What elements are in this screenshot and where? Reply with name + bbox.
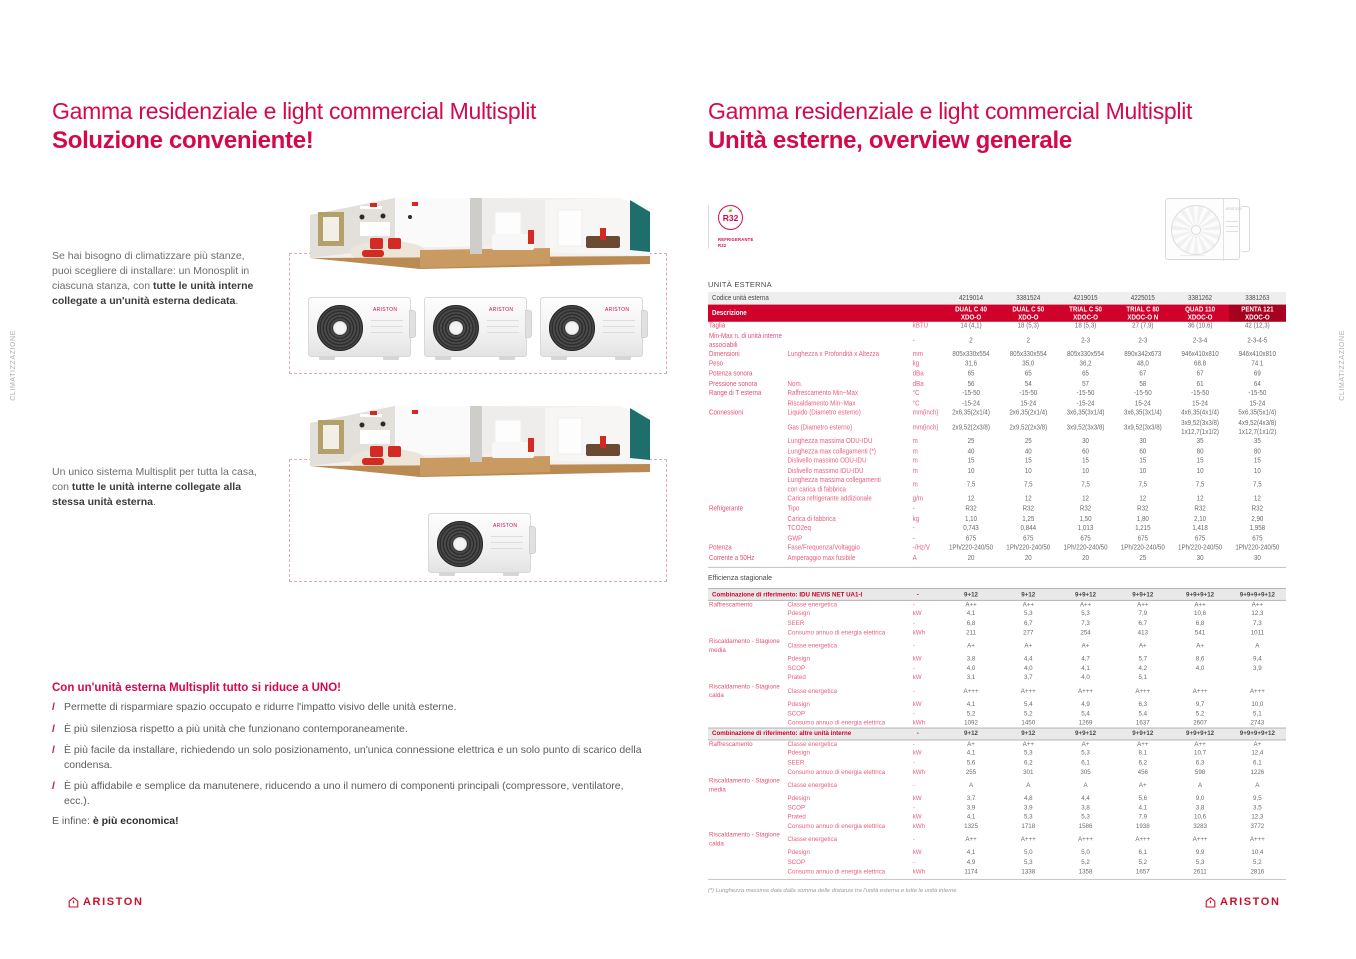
row-value-5: 3283 [1171,822,1228,831]
row-value-3: 1,013 [1057,524,1114,534]
row-unit: kg [913,515,943,525]
row-value-5: 4,0 [1171,664,1228,673]
table-row: Lunghezza max collegamenti (*)m404060608… [708,447,1286,457]
row-value-1: R32 [942,505,999,515]
row-sub-label: Consumo annuo di energia elettrica [788,628,913,637]
row-group-label [708,664,788,673]
row-value-4: 48,0 [1114,360,1171,370]
row-value-4: 8,1 [1114,749,1171,758]
table-row: TCO2eq-0,7430,8441,0131,2151,4181,958 [708,524,1286,534]
row-group-label: Range di T esterna [708,389,788,399]
row-value-5: 5,3 [1171,858,1228,867]
row-value-6: 5,1 [1229,709,1286,718]
row-unit: kWh [913,719,943,728]
row-value-1: 10 [942,467,999,477]
row-value-6: 12,3 [1229,610,1286,619]
row-value-2: 5,4 [1000,700,1057,709]
table-row: SEER-6,86,77,36,76,87,3 [708,619,1286,628]
row-unit: - [913,332,943,350]
row-value-1: 31,6 [942,360,999,370]
row-value-5: 2-3-4 [1171,332,1228,350]
row-value-5: 541 [1171,628,1228,637]
row-value-3: 5,3 [1057,610,1114,619]
row-value-5: 9,0 [1171,794,1228,803]
row-unit: -/Hz/V [913,544,943,554]
row-sub-label: TCO2eq [788,524,913,534]
divider-cell [708,564,1286,567]
row-value-6: -15-50 [1229,389,1286,399]
row-value-3: 10 [1057,467,1114,477]
row-value-1: 1Ph/220-240/50 [942,544,999,554]
row-value-2: R32 [1000,505,1057,515]
row-value-6: 1011 [1229,628,1286,637]
table-row: ConnessioniLiquido (Diametro esterno)mm(… [708,409,1286,419]
row-value-2: 2 [1000,332,1057,350]
row-sub-label: Classe energetica [788,832,913,849]
row-value-3: 5,4 [1057,709,1114,718]
row-group-label: Corrente a 50Hz [708,554,788,564]
table-row: Lunghezza massima collegamenticon carica… [708,477,1286,495]
table-row: DimensioniLunghezza x Profondità x Altez… [708,350,1286,360]
row-group-label [708,804,788,813]
row-value-3: 805x330x554 [1057,350,1114,360]
row-unit: kW [913,849,943,858]
row-value-1: 6,8 [942,619,999,628]
table-row: Dislivello massimo ODU-IDUm151515151515 [708,457,1286,467]
row-value-5: 68.8 [1171,360,1228,370]
row-value-5: 2607 [1171,719,1228,728]
row-value-2: A++ [1000,600,1057,609]
row-group-label [708,758,788,767]
row-sub-label: Prated [788,674,913,683]
row-value-3: 1269 [1057,719,1114,728]
header-desc-label: Descrizione [708,305,942,322]
row-value-4: 5,7 [1114,655,1171,664]
row-group-label: Potenza sonora [708,370,788,380]
row-value-5: R32 [1171,505,1228,515]
row-value-3: R32 [1057,505,1114,515]
row-value-5: -15-50 [1171,389,1228,399]
benefit-text-4: È più affidabile e semplice da manutener… [64,780,624,807]
row-value-1: 211 [942,628,999,637]
combination-2-header: Combinazione di riferimento: altre unità… [708,728,1286,740]
row-unit: - [913,524,943,534]
row-value-1: 4,1 [942,700,999,709]
row-value-6: 35 [1229,437,1286,447]
row-unit: m [913,437,943,447]
row-unit: mm [913,350,943,360]
table-row: PdesignkW3,74,84,45,69,09,5 [708,794,1286,803]
row-value-2: A++ [1000,740,1057,749]
table-row: Dislivello massimo IDU-IDUm101010101010 [708,467,1286,477]
row-value-2: 4,4 [1000,655,1057,664]
benefit-item-2: / È più silenziosa rispetto a più unità … [52,722,652,737]
row-value-3: 3x6,35(3x1/4) [1057,409,1114,419]
row-value-3: 4,4 [1057,794,1114,803]
efficiency-title: Efficienza stagionale [708,575,772,582]
table-row: Potenza sonoradBa656565676769 [708,370,1286,380]
left-heading-line2: Soluzione conveniente! [52,127,536,155]
table-row: SCOP-3,93,93,84,13,83,5 [708,804,1286,813]
row-value-1: 20 [942,554,999,564]
row-value-1: -15-24 [942,399,999,409]
row-value-6: A+++ [1229,683,1286,700]
row-value-6: A+++ [1229,832,1286,849]
row-value-1: 1092 [942,719,999,728]
row-value-5: 9,9 [1171,849,1228,858]
row-value-3: 57 [1057,379,1114,389]
row-value-2: -15-50 [1000,389,1057,399]
right-heading-line1: Gamma residenziale e light commercial Mu… [708,98,1192,125]
row-value-5: 10,6 [1171,610,1228,619]
row-value-5: 675 [1171,534,1228,544]
row-value-1: 255 [942,768,999,777]
row-unit: - [913,619,943,628]
column-code-2: 3381524 [1000,292,1057,305]
table-row: RefrigeranteTipo-R32R32R32R32R32R32 [708,505,1286,515]
bullet-marker-icon: / [52,743,55,758]
row-value-3: 36,2 [1057,360,1114,370]
row-value-2: 54 [1000,379,1057,389]
row-sub-label: Liquido (Diametro esterno) [788,409,913,419]
row-group-label: Riscaldamento - Stagione media [708,638,788,655]
row-group-label [708,619,788,628]
table-row: Pesokg31,635,036,248,068.874.1 [708,360,1286,370]
row-unit: mm(inch) [913,409,943,419]
row-group-label: Raffrescamento [708,740,788,749]
row-value-6: A++ [1229,600,1286,609]
row-sub-label: Consumo annuo di energia elettrica [788,719,913,728]
row-unit: - [913,758,943,767]
row-value-3: 5,0 [1057,849,1114,858]
ariston-logo-left: ARISTON [68,896,144,908]
row-value-3: 6,1 [1057,758,1114,767]
row-group-label: Riscaldamento - Stagione calda [708,832,788,849]
row-value-6: 74.1 [1229,360,1286,370]
row-value-1: 4,1 [942,749,999,758]
product-wall-bracket [1240,206,1250,252]
table-row: Consumo annuo di energia elettricakWh109… [708,719,1286,728]
row-group-label [708,610,788,619]
bullet-marker-icon: / [52,722,55,737]
row-value-2: 3,9 [1000,804,1057,813]
row-value-4: A+++ [1114,832,1171,849]
row-unit: A [913,554,943,564]
row-group-label [708,719,788,728]
row-value-4: 30 [1114,437,1171,447]
row-group-label [708,813,788,822]
combination-2-header-value-3: 9+9+12 [1057,728,1114,740]
row-value-4: 5,2 [1114,858,1171,867]
row-value-4: 25 [1114,554,1171,564]
row-value-4: 15-24 [1114,399,1171,409]
row-sub-label: Pdesign [788,849,913,858]
row-value-6: 675 [1229,534,1286,544]
row-unit: m [913,457,943,467]
row-value-1: 12 [942,495,999,505]
row-unit: - [913,858,943,867]
row-value-4: 27 (7,9) [1114,322,1171,332]
row-value-3: A+ [1057,740,1114,749]
combination-1-header-unit: - [913,589,943,601]
row-value-5: 15 [1171,457,1228,467]
row-value-1: 1,10 [942,515,999,525]
row-value-4: A+ [1114,777,1171,794]
row-group-label [708,822,788,831]
row-value-1: 2x6,35(2x1/4) [942,409,999,419]
row-value-3: 3x9,52(3x3/8) [1057,419,1114,437]
table-row: Riscaldamento Min~Max°C-15-2415-24-15-24… [708,399,1286,409]
row-sub-label: Lunghezza massima ODU-IDU [788,437,913,447]
para2-tail: . [153,496,156,508]
row-value-4: 58 [1114,379,1171,389]
row-value-1: A+ [942,638,999,655]
benefit-text-1: Permette di risparmiare spazio occupato … [64,701,456,713]
r32-badge: 🍃 R32 REFRIGERANTE R32 [708,205,753,249]
row-value-3: -15-24 [1057,399,1114,409]
row-value-1: 5,6 [942,758,999,767]
row-unit: - [913,709,943,718]
row-value-1: 25 [942,437,999,447]
row-value-3: 7,3 [1057,619,1114,628]
row-sub-label [788,370,913,380]
row-value-6: 6,1 [1229,758,1286,767]
row-unit: m [913,477,943,495]
left-paragraph-2: Un unico sistema Multisplit per tutta la… [52,465,267,510]
combination-1-header-value-2: 9+12 [1000,589,1057,601]
row-value-4: 4,1 [1114,804,1171,813]
combination-1-header-value-4: 9+9+12 [1114,589,1171,601]
row-group-label [708,477,788,495]
outro-plain: E infine: [52,815,93,827]
row-unit: - [913,683,943,700]
ariston-wordmark: ARISTON [1220,896,1281,908]
row-value-5: 2611 [1171,867,1228,876]
row-value-3: 4,7 [1057,655,1114,664]
table-row: Riscaldamento - Stagione caldaClasse ene… [708,832,1286,849]
row-group-label [708,495,788,505]
row-group-label [708,655,788,664]
right-page: CLIMATIZZAZIONE Gamma residenziale e lig… [678,0,1356,959]
row-value-2: 18 (5,3) [1000,322,1057,332]
row-value-1: 5,2 [942,709,999,718]
row-value-2: 1450 [1000,719,1057,728]
product-photo-outdoor-unit: ARISTON ——————— [1165,198,1240,260]
row-sub-label: Carica di fabbrica [788,515,913,525]
row-value-4: A++ [1114,740,1171,749]
row-group-label: Peso [708,360,788,370]
combination-1-header: Combinazione di riferimento: IDU NEVIS N… [708,589,1286,601]
row-value-1: 1174 [942,867,999,876]
row-value-6: 10,0 [1229,700,1286,709]
row-value-4: 7,5 [1114,477,1171,495]
row-value-2: A+ [1000,638,1057,655]
row-value-2: 35,0 [1000,360,1057,370]
row-value-5: 30 [1171,554,1228,564]
row-value-6: 30 [1229,554,1286,564]
table-title: UNITÀ ESTERNA [708,280,772,289]
row-unit: - [913,777,943,794]
row-value-2: A+++ [1000,832,1057,849]
row-value-6: 1Ph/220-240/50 [1229,544,1286,554]
benefit-text-3: È più facile da installare, richiedendo … [64,744,642,771]
row-group-label [708,399,788,409]
row-value-2: 1,25 [1000,515,1057,525]
row-value-5: 946x410x810 [1171,350,1228,360]
row-sub-label: Pdesign [788,700,913,709]
row-value-1: A++ [942,600,999,609]
row-value-6: 3,9 [1229,664,1286,673]
header-code-label: Codice unità esterna [708,292,942,305]
row-group-label [708,628,788,637]
row-value-4: 67 [1114,370,1171,380]
row-value-3: 5,2 [1057,858,1114,867]
row-group-label [708,867,788,876]
row-value-3: 675 [1057,534,1114,544]
combination-2-header-value-5: 9+9+9+12 [1171,728,1228,740]
row-value-5: 6,8 [1171,619,1228,628]
row-value-6: 12,3 [1229,813,1286,822]
table-row: SCOP-5,25,25,45,45,25,1 [708,709,1286,718]
table-row: Range di T esternaRaffrescamento Min~Max… [708,389,1286,399]
row-sub-label: Consumo annuo di energia elettrica [788,822,913,831]
row-value-3: 20 [1057,554,1114,564]
row-value-3: 254 [1057,628,1114,637]
row-value-5: 10,7 [1171,749,1228,758]
row-unit: g/m [913,495,943,505]
row-value-6: 1,958 [1229,524,1286,534]
row-sub-label: SCOP [788,709,913,718]
combination-2-header-value-1: 9+12 [942,728,999,740]
table-divider [708,564,1286,567]
bullet-marker-icon: / [52,779,55,794]
row-group-label [708,437,788,447]
benefit-item-4: / È più affidabile e semplice da manuten… [52,779,652,808]
row-value-5: 3,8 [1171,804,1228,813]
row-unit: - [913,804,943,813]
row-sub-label: SEER [788,758,913,767]
row-value-5: 2,10 [1171,515,1228,525]
row-sub-label: Lunghezza x Profondità x Altezza [788,350,913,360]
row-value-2: 7,5 [1000,477,1057,495]
row-value-3: 1358 [1057,867,1114,876]
column-code-1: 4219014 [942,292,999,305]
row-value-2: 2x9,52(2x3/8) [1000,419,1057,437]
row-value-2: 25 [1000,437,1057,447]
benefits-outro: E infine: è più economica! [52,815,652,827]
row-unit: °C [913,399,943,409]
row-value-1: 675 [942,534,999,544]
left-paragraph-1: Se hai bisogno di climatizzare più stanz… [52,249,267,309]
column-code-6: 3381263 [1229,292,1286,305]
row-sub-label: SCOP [788,664,913,673]
row-value-4: A+++ [1114,683,1171,700]
row-value-6: 64 [1229,379,1286,389]
table-row: Riscaldamento - Stagione caldaClasse ene… [708,683,1286,700]
row-value-2: 1Ph/220-240/50 [1000,544,1057,554]
row-unit: kBTU [913,322,943,332]
row-value-4: 5,4 [1114,709,1171,718]
row-value-1: 65 [942,370,999,380]
row-value-3: 4,1 [1057,664,1114,673]
row-value-6: 15-24 [1229,399,1286,409]
row-value-4: 6,7 [1114,619,1171,628]
row-group-label [708,794,788,803]
row-unit: kW [913,674,943,683]
table-header-codes: Codice unità esterna42190143381524421901… [708,292,1286,305]
combination-1-header-value-6: 9+9+9+9+12 [1229,589,1286,601]
row-sub-label: Gas (Diametro esterno) [788,419,913,437]
row-value-5: 61 [1171,379,1228,389]
row-value-4: 5,6 [1114,794,1171,803]
row-sub-label: Riscaldamento Min~Max [788,399,913,409]
row-unit: dBa [913,370,943,380]
row-sub-label: Amperaggio max fusibile [788,554,913,564]
row-value-4: 413 [1114,628,1171,637]
table-row: PotenzaFase/Frequenza/Voltaggio-/Hz/V1Ph… [708,544,1286,554]
row-value-4: 1,80 [1114,515,1171,525]
column-code-4: 4225015 [1114,292,1171,305]
row-value-2: 301 [1000,768,1057,777]
table-row: Riscaldamento - Stagione mediaClasse ene… [708,638,1286,655]
table-row: RaffrescamentoClasse energetica-A++A++A+… [708,600,1286,609]
row-unit: kWh [913,867,943,876]
row-value-1: 4,1 [942,813,999,822]
row-group-label [708,749,788,758]
side-tab-right: CLIMATIZZAZIONE [1339,330,1346,401]
row-value-6: 1226 [1229,768,1286,777]
combination-2-header-value-4: 9+9+12 [1114,728,1171,740]
row-group-label [708,858,788,867]
row-group-label: Raffrescamento [708,600,788,609]
spec-table: Codice unità esterna42190143381524421901… [708,292,1286,568]
table-row: Pressione sonoraNom.dBa565457586164 [708,379,1286,389]
row-value-4: 4,2 [1114,664,1171,673]
row-unit: kWh [913,768,943,777]
row-value-4: A+ [1114,638,1171,655]
row-value-5: 4x6,35(4x1/4) [1171,409,1228,419]
row-sub-label: GWP [788,534,913,544]
row-value-6: A [1229,777,1286,794]
row-value-3: 30 [1057,437,1114,447]
table-row: Gas (Diametro esterno)mm(inch)2x9,52(2x3… [708,419,1286,437]
row-value-6: 5x6,35(5x1/4) [1229,409,1286,419]
row-sub-label: Classe energetica [788,777,913,794]
row-value-3: 60 [1057,447,1114,457]
row-group-label: Dimensioni [708,350,788,360]
row-value-3: 7,5 [1057,477,1114,495]
row-unit: m [913,467,943,477]
row-value-1: 7,5 [942,477,999,495]
row-value-2: 5,3 [1000,858,1057,867]
row-value-5: A [1171,777,1228,794]
combination-2-header-value-2: 9+12 [1000,728,1057,740]
table-row: Corrente a 50HzAmperaggio max fusibileA2… [708,554,1286,564]
row-group-label [708,534,788,544]
column-name-1: DUAL C 40XDO-O [942,305,999,322]
row-value-6: 9,4 [1229,655,1286,664]
row-value-2: 4,0 [1000,664,1057,673]
row-value-6: 946x410x810 [1229,350,1286,360]
outdoor-unit-single: ARISTON [428,513,531,573]
row-value-5: 3x9,52(3x3/8)1x12,7(1x1/2) [1171,419,1228,437]
ariston-flame-icon [68,897,79,908]
ariston-flame-icon [1205,897,1216,908]
row-group-label: Min-Max n. di unità interne associabili [708,332,788,350]
row-value-4: 15 [1114,457,1171,467]
row-value-3: 15 [1057,457,1114,467]
row-value-6: 15 [1229,457,1286,467]
